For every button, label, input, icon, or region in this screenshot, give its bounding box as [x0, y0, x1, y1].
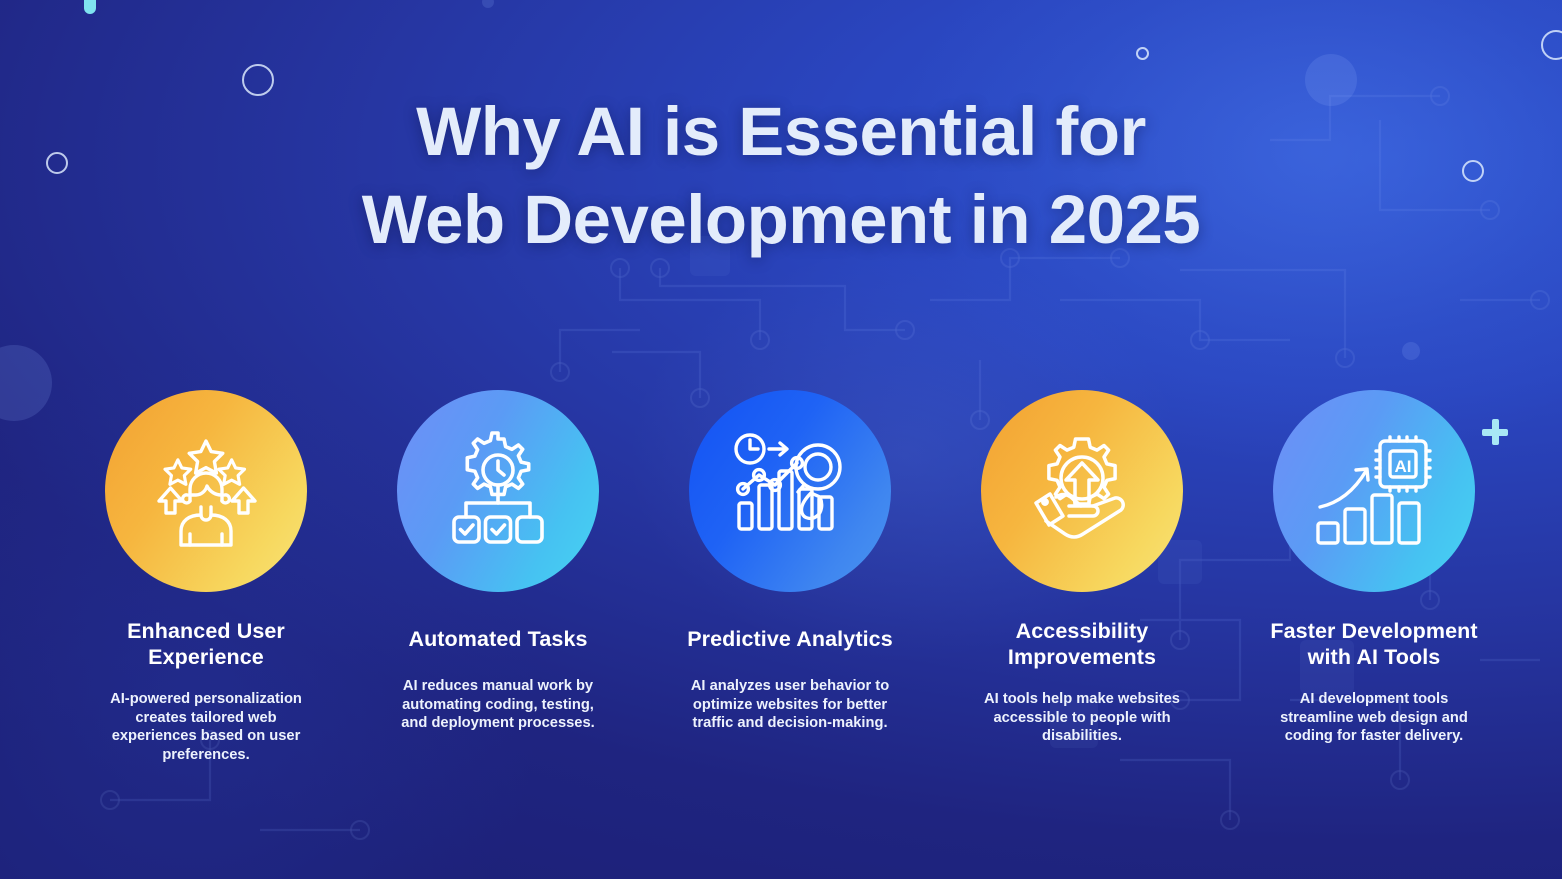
card-title: Predictive Analytics	[687, 626, 893, 652]
soft-dot-center-top	[482, 0, 494, 8]
infographic-canvas: Why AI is Essential for Web Development …	[0, 0, 1562, 879]
soft-dot-mid-right	[1402, 342, 1420, 360]
icon-circle-accessibility-improvements	[981, 390, 1183, 592]
ring-top-right-edge	[1541, 30, 1562, 60]
chip-label: AI	[1395, 457, 1412, 476]
soft-dot-left-edge	[0, 345, 52, 421]
card-title: Enhanced User Experience	[99, 618, 314, 670]
card-title: Accessibility Improvements	[975, 618, 1190, 670]
hand-gear-arrow-icon	[1018, 429, 1146, 553]
user-stars-arrows-icon	[144, 429, 268, 553]
card-description: AI tools help make websites accessible t…	[978, 690, 1186, 746]
feature-card-faster-development[interactable]: AI Faster Development with AI Tools AI d…	[1228, 390, 1520, 810]
page-title-line-1: Why AI is Essential for	[0, 88, 1562, 176]
card-title: Automated Tasks	[408, 626, 587, 652]
card-description: AI-powered personalization creates tailo…	[102, 690, 310, 764]
feature-card-enhanced-user-experience[interactable]: Enhanced User Experience AI-powered pers…	[60, 390, 352, 810]
feature-card-accessibility-improvements[interactable]: Accessibility Improvements AI tools help…	[936, 390, 1228, 810]
ai-chip-growth-bars-icon: AI	[1310, 429, 1438, 553]
icon-circle-enhanced-user-experience	[105, 390, 307, 592]
feature-card-list: Enhanced User Experience AI-powered pers…	[60, 390, 1520, 810]
page-title-line-2: Web Development in 2025	[0, 176, 1562, 264]
feature-card-predictive-analytics[interactable]: Predictive Analytics AI analyzes user be…	[644, 390, 936, 810]
card-title: Faster Development with AI Tools	[1267, 618, 1482, 670]
ring-mid-right	[1136, 47, 1149, 60]
icon-circle-predictive-analytics	[689, 390, 891, 592]
icon-circle-automated-tasks	[397, 390, 599, 592]
card-description: AI development tools streamline web desi…	[1270, 690, 1478, 746]
gear-clock-checklist-icon	[436, 429, 560, 553]
cyan-blob-top-icon	[84, 0, 96, 14]
page-title: Why AI is Essential for Web Development …	[0, 88, 1562, 264]
chart-magnifier-clock-icon	[726, 427, 854, 555]
feature-card-automated-tasks[interactable]: Automated Tasks AI reduces manual work b…	[352, 390, 644, 810]
card-description: AI reduces manual work by automating cod…	[394, 677, 602, 733]
card-description: AI analyzes user behavior to optimize we…	[686, 677, 894, 733]
icon-circle-faster-development: AI	[1273, 390, 1475, 592]
